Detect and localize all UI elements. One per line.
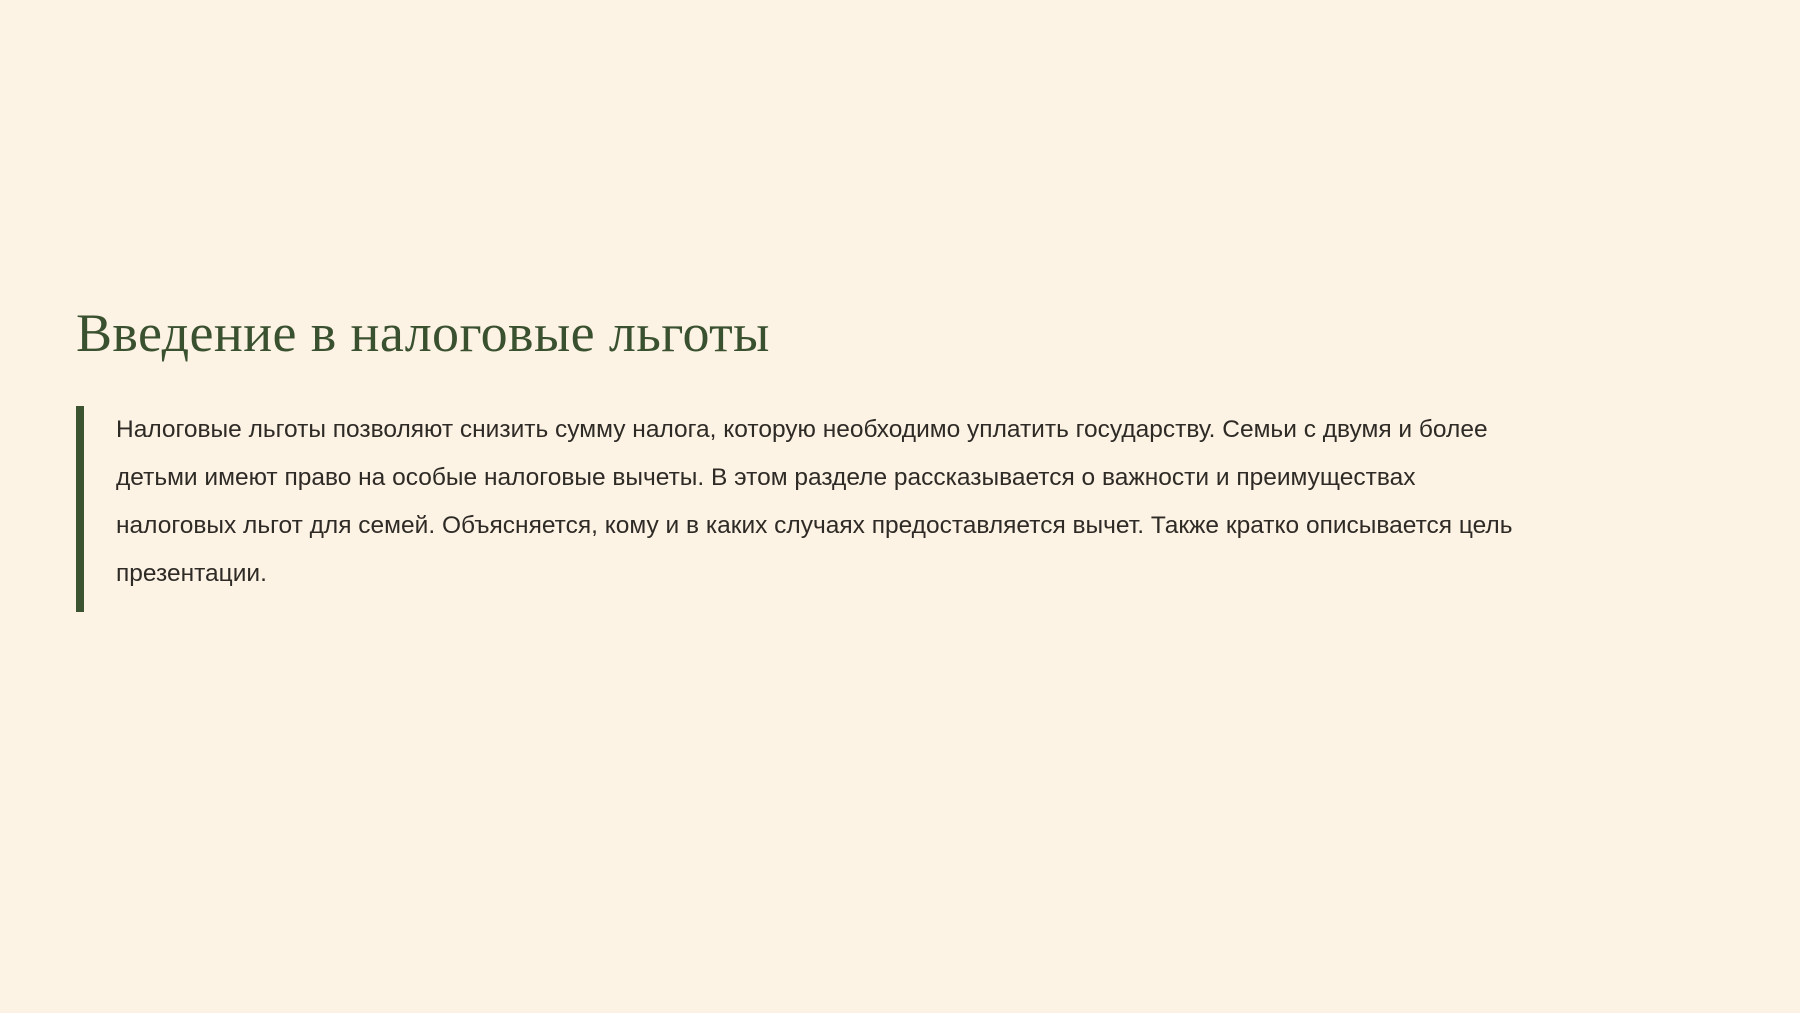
slide: Введение в налоговые льготы Налоговые ль… (0, 0, 1800, 1013)
body-block: Налоговые льготы позволяют снизить сумму… (76, 406, 1736, 612)
body-paragraph: Налоговые льготы позволяют снизить сумму… (116, 406, 1536, 598)
accent-bar (76, 406, 84, 612)
slide-content: Введение в налоговые льготы Налоговые ль… (76, 300, 1736, 612)
page-title: Введение в налоговые льготы (76, 300, 1736, 366)
